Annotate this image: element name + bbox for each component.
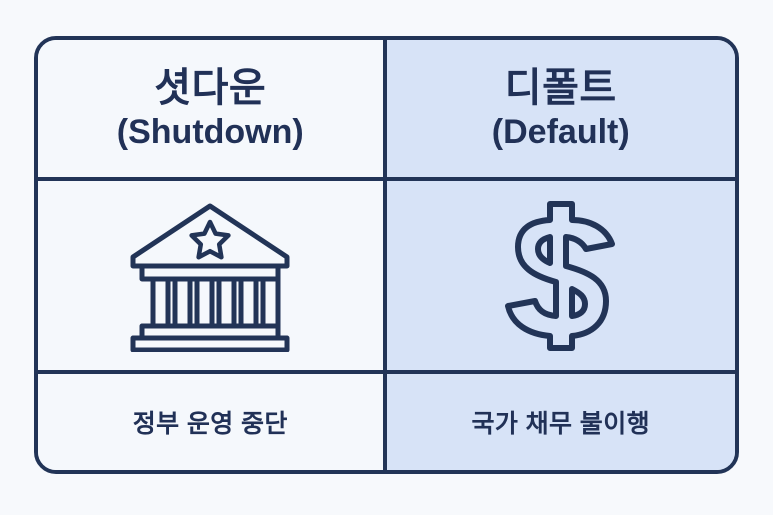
caption-text-default: 국가 채무 불이행 [472, 404, 651, 440]
header-text-default: 디폴트 (Default) [482, 67, 640, 151]
caption-cell-shutdown: 정부 운영 중단 [38, 374, 387, 470]
header-title-korean-shutdown: 셧다운 [117, 67, 304, 110]
bank-building-icon-glyph [127, 200, 293, 352]
comparison-infographic: 셧다운 (Shutdown) 디폴트 (Default) [0, 0, 773, 515]
header-cell-shutdown: 셧다운 (Shutdown) [38, 40, 387, 181]
icon-cell-default [387, 181, 736, 374]
header-title-korean-default: 디폴트 [492, 67, 630, 110]
caption-cell-default: 국가 채무 불이행 [387, 374, 736, 470]
dollar-sign-icon [387, 181, 736, 370]
header-title-english-default: (Default) [492, 114, 630, 151]
bank-building-icon [38, 181, 383, 370]
icon-cell-shutdown [38, 181, 387, 374]
caption-text-shutdown: 정부 운영 중단 [133, 404, 288, 440]
header-text-shutdown: 셧다운 (Shutdown) [107, 67, 314, 151]
comparison-table-card: 셧다운 (Shutdown) 디폴트 (Default) [34, 36, 739, 474]
header-cell-default: 디폴트 (Default) [387, 40, 736, 181]
dollar-sign-icon-glyph [502, 200, 620, 352]
header-title-english-shutdown: (Shutdown) [117, 114, 304, 151]
